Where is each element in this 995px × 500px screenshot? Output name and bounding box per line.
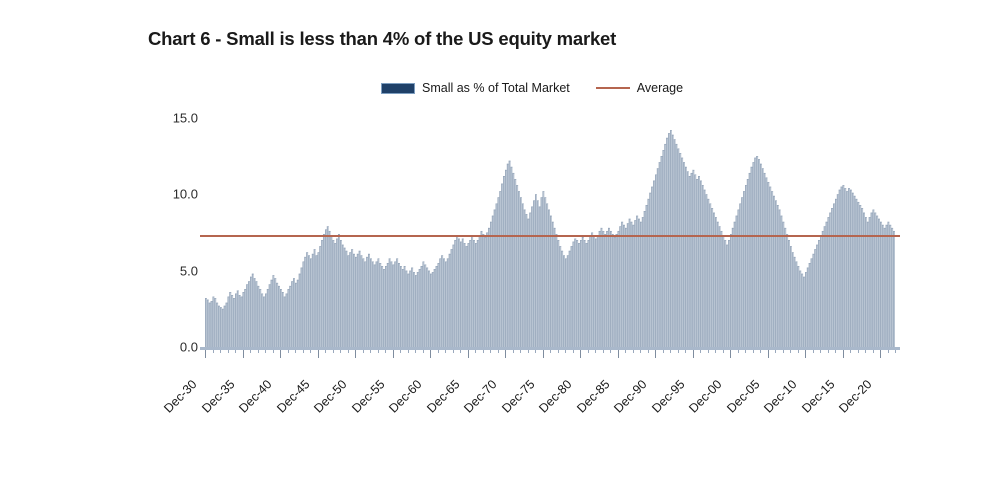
y-tick-label: 10.0 xyxy=(150,187,198,202)
x-tick-label: Dec-80 xyxy=(536,377,574,415)
x-tick-label: Dec-00 xyxy=(686,377,724,415)
bar-series-small-pct xyxy=(205,118,895,347)
x-tick-label: Dec-95 xyxy=(649,377,687,415)
x-tick-label: Dec-20 xyxy=(836,377,874,415)
legend-item-average[interactable]: Average xyxy=(596,78,683,98)
y-tick-label: 15.0 xyxy=(150,111,198,126)
x-tick-label: Dec-60 xyxy=(386,377,424,415)
x-tick-label: Dec-50 xyxy=(311,377,349,415)
y-axis: 0.05.010.015.0 xyxy=(150,105,198,365)
legend-bar-swatch-icon xyxy=(381,83,415,94)
x-tick-label: Dec-30 xyxy=(161,377,199,415)
x-tick-label: Dec-55 xyxy=(349,377,387,415)
plot-area xyxy=(205,118,895,347)
x-tick-label: Dec-85 xyxy=(574,377,612,415)
x-tick-label: Dec-70 xyxy=(461,377,499,415)
x-tick-label: Dec-45 xyxy=(274,377,312,415)
chart-legend: Small as % of Total Market Average xyxy=(381,78,683,98)
legend-label-small-pct: Small as % of Total Market xyxy=(422,81,570,95)
chart-screenshot: Chart 6 - Small is less than 4% of the U… xyxy=(0,0,995,500)
legend-label-average: Average xyxy=(637,81,683,95)
x-tick-label: Dec-05 xyxy=(724,377,762,415)
x-tick-label: Dec-90 xyxy=(611,377,649,415)
x-tick-label: Dec-40 xyxy=(236,377,274,415)
x-tick-label: Dec-35 xyxy=(199,377,237,415)
legend-line-swatch-icon xyxy=(596,87,630,89)
x-tick-label: Dec-65 xyxy=(424,377,462,415)
chart-title: Chart 6 - Small is less than 4% of the U… xyxy=(148,28,616,50)
x-tick-label: Dec-75 xyxy=(499,377,537,415)
x-tick-label: Dec-15 xyxy=(799,377,837,415)
x-tick-label: Dec-10 xyxy=(761,377,799,415)
y-tick-label: 5.0 xyxy=(150,263,198,278)
x-axis: Dec-30Dec-35Dec-40Dec-45Dec-50Dec-55Dec-… xyxy=(0,347,995,417)
legend-item-small-pct[interactable]: Small as % of Total Market xyxy=(381,78,570,98)
